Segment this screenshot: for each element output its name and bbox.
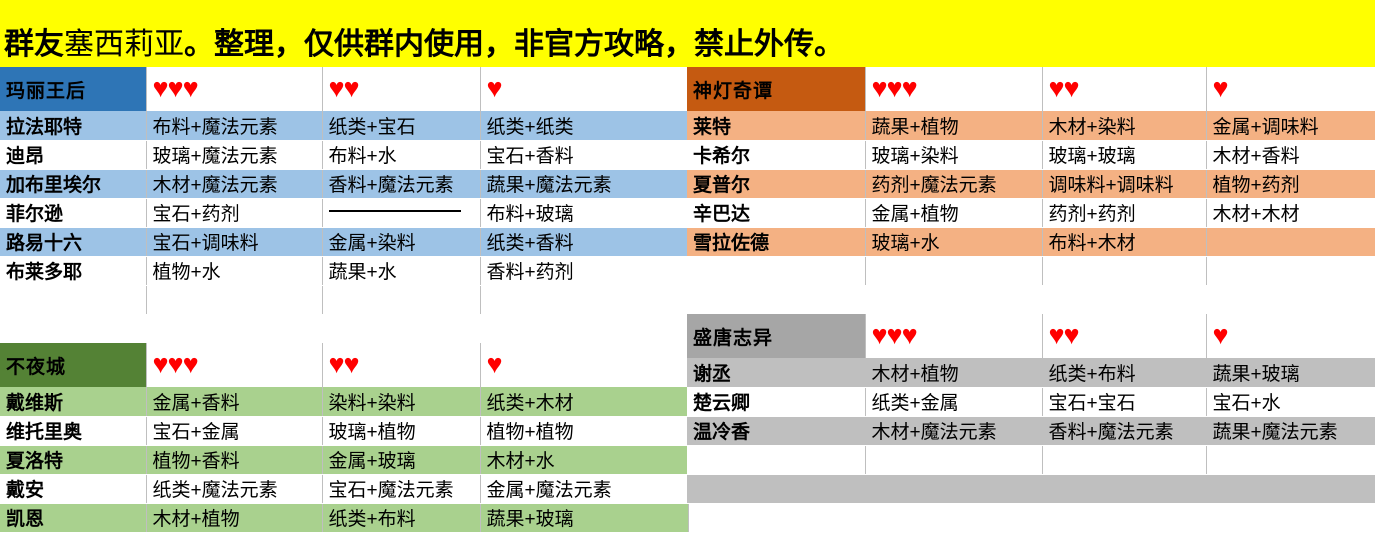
heart-column-2: ♥♥	[1042, 67, 1206, 111]
table-row[interactable]: 莱特 蔬果+植物 木材+染料 金属+调味料	[687, 111, 1375, 140]
heart-icon-group-2: ♥♥	[329, 349, 359, 379]
recipe-cell: 蔬果+水	[322, 256, 480, 285]
section-title-mary-queen: 玛丽王后	[0, 67, 146, 111]
heart-icon-group-3: ♥♥♥	[872, 320, 917, 350]
recipe-cell: 蔬果+魔法元素	[480, 169, 688, 198]
character-name: 谢丞	[687, 358, 865, 387]
heart-icon-group-1: ♥	[1213, 73, 1228, 103]
heart-column-1: ♥	[1206, 67, 1375, 111]
recipe-cell: 木材+水	[480, 445, 688, 474]
character-name: 迪昂	[0, 140, 146, 169]
character-name	[687, 445, 865, 474]
character-name: 夏洛特	[0, 445, 146, 474]
table-row[interactable]: 加布里埃尔 木材+魔法元素 香料+魔法元素 蔬果+魔法元素	[0, 169, 688, 198]
recipe-cell: 木材+木材	[1206, 198, 1375, 227]
recipe-cell: 宝石+宝石	[1042, 387, 1206, 416]
banner-text: 群友塞西莉亚。整理，仅供群内使用，非官方攻略，禁止外传。	[4, 27, 844, 63]
recipe-cell: 纸类+宝石	[322, 111, 480, 140]
heart-column-1: ♥	[480, 67, 688, 111]
table-row[interactable]	[687, 445, 1375, 474]
heart-icon-group-1: ♥	[1213, 320, 1228, 350]
heart-column-2: ♥♥	[322, 67, 480, 111]
recipe-cell: 布料+木材	[1042, 227, 1206, 256]
recipe-cell: 金属+玻璃	[322, 445, 480, 474]
recipe-cell: 金属+调味料	[1206, 111, 1375, 140]
heart-icon-group-3: ♥♥♥	[153, 349, 198, 379]
tables-grid: 玛丽王后 ♥♥♥ ♥♥ ♥ 拉法耶特 布料+魔法元素 纸类+宝石 纸类+纸类 迪…	[0, 67, 1375, 507]
recipe-cell: 木材+植物	[865, 358, 1042, 387]
character-name: 拉法耶特	[0, 111, 146, 140]
character-name: 戴维斯	[0, 387, 146, 416]
recipe-cell: 木材+植物	[146, 503, 322, 532]
recipe-cell: 布料+魔法元素	[146, 111, 322, 140]
table-row[interactable]: 辛巴达 金属+植物 药剂+药剂 木材+木材	[687, 198, 1375, 227]
character-name: 路易十六	[0, 227, 146, 256]
spacer-row	[687, 256, 1375, 285]
gap-row	[687, 285, 1375, 314]
recipe-cell: 木材+染料	[1042, 111, 1206, 140]
table-row[interactable]: 卡希尔 玻璃+染料 玻璃+玻璃 木材+香料	[687, 140, 1375, 169]
spacer-row	[0, 285, 688, 314]
recipe-cell-empty	[322, 198, 480, 227]
recipe-cell: 纸类+布料	[1042, 358, 1206, 387]
spacer-cell	[1206, 256, 1375, 285]
heart-column-2: ♥♥	[322, 343, 480, 387]
recipe-cell: 玻璃+魔法元素	[146, 140, 322, 169]
heart-icon-group-2: ♥♥	[1049, 320, 1079, 350]
recipe-cell: 宝石+香料	[480, 140, 688, 169]
recipe-cell: 蔬果+玻璃	[1206, 358, 1375, 387]
heart-icon-group-1: ♥	[487, 73, 502, 103]
recipe-cell: 宝石+魔法元素	[322, 474, 480, 503]
table-row[interactable]: 迪昂 玻璃+魔法元素 布料+水 宝石+香料	[0, 140, 688, 169]
recipe-cell: 蔬果+植物	[865, 111, 1042, 140]
character-name: 夏普尔	[687, 169, 865, 198]
spacer-cell	[0, 285, 146, 314]
table-row[interactable]: 夏普尔 药剂+魔法元素 调味料+调味料 植物+药剂	[687, 169, 1375, 198]
recipe-cell: 植物+药剂	[1206, 169, 1375, 198]
heart-icon-group-2: ♥♥	[329, 73, 359, 103]
recipe-cell	[865, 474, 1042, 503]
table-row[interactable]: 戴安 纸类+魔法元素 宝石+魔法元素 金属+魔法元素	[0, 474, 688, 503]
recipe-cell: 布料+水	[322, 140, 480, 169]
recipe-cell: 金属+魔法元素	[480, 474, 688, 503]
heart-column-3: ♥♥♥	[146, 67, 322, 111]
recipe-cell: 植物+植物	[480, 416, 688, 445]
section-title-sleepless-city: 不夜城	[0, 343, 146, 387]
recipe-cell: 植物+水	[146, 256, 322, 285]
recipe-cell-empty	[1206, 227, 1375, 256]
section-header-tang-tales: 盛唐志异 ♥♥♥ ♥♥ ♥	[687, 314, 1375, 358]
recipe-cell: 木材+魔法元素	[146, 169, 322, 198]
heart-column-3: ♥♥♥	[865, 67, 1042, 111]
recipe-cell: 纸类+魔法元素	[146, 474, 322, 503]
heart-column-1: ♥	[1206, 314, 1375, 358]
table-row[interactable]: 维托里奥 宝石+金属 玻璃+植物 植物+植物	[0, 416, 688, 445]
character-name: 辛巴达	[687, 198, 865, 227]
recipe-cell: 宝石+金属	[146, 416, 322, 445]
table-row[interactable]: 布莱多耶 植物+水 蔬果+水 香料+药剂	[0, 256, 688, 285]
table-row[interactable]: 谢丞 木材+植物 纸类+布料 蔬果+玻璃	[687, 358, 1375, 387]
recipe-cell: 纸类+木材	[480, 387, 688, 416]
heart-column-3: ♥♥♥	[865, 314, 1042, 358]
recipe-cell: 金属+植物	[865, 198, 1042, 227]
right-panel: 神灯奇谭 ♥♥♥ ♥♥ ♥ 莱特 蔬果+植物 木材+染料 金属+调味料 卡希尔 …	[687, 67, 1375, 507]
spacer-cell	[1042, 256, 1206, 285]
left-panel: 玛丽王后 ♥♥♥ ♥♥ ♥ 拉法耶特 布料+魔法元素 纸类+宝石 纸类+纸类 迪…	[0, 67, 688, 507]
heart-column-3: ♥♥♥	[146, 343, 322, 387]
recipe-cell: 木材+香料	[1206, 140, 1375, 169]
recipe-cell: 蔬果+魔法元素	[1206, 416, 1375, 445]
spacer-cell	[865, 256, 1042, 285]
character-name: 莱特	[687, 111, 865, 140]
character-name	[687, 474, 865, 503]
recipe-cell: 香料+药剂	[480, 256, 688, 285]
table-row[interactable]: 戴维斯 金属+香料 染料+染料 纸类+木材	[0, 387, 688, 416]
recipe-cell	[1042, 474, 1206, 503]
recipe-cell: 金属+香料	[146, 387, 322, 416]
table-row[interactable]: 雪拉佐德 玻璃+水 布料+木材	[687, 227, 1375, 256]
recipe-cell	[865, 445, 1042, 474]
recipe-cell: 金属+染料	[322, 227, 480, 256]
heart-column-1: ♥	[480, 343, 688, 387]
character-name: 戴安	[0, 474, 146, 503]
section-header-magic-lamp: 神灯奇谭 ♥♥♥ ♥♥ ♥	[687, 67, 1375, 111]
recipe-cell: 玻璃+水	[865, 227, 1042, 256]
title-banner: 群友塞西莉亚。整理，仅供群内使用，非官方攻略，禁止外传。	[0, 0, 1375, 67]
recipe-cell: 宝石+药剂	[146, 198, 322, 227]
recipe-cell: 玻璃+玻璃	[1042, 140, 1206, 169]
recipe-cell: 调味料+调味料	[1042, 169, 1206, 198]
table-row[interactable]: 温冷香 木材+魔法元素 香料+魔法元素 蔬果+魔法元素	[687, 416, 1375, 445]
character-name: 加布里埃尔	[0, 169, 146, 198]
recipe-cell: 纸类+香料	[480, 227, 688, 256]
recipe-cell: 香料+魔法元素	[322, 169, 480, 198]
gap-row	[0, 314, 688, 343]
recipe-cell: 香料+魔法元素	[1042, 416, 1206, 445]
recipe-cell: 植物+香料	[146, 445, 322, 474]
spacer-cell	[322, 285, 480, 314]
table-row[interactable]: 夏洛特 植物+香料 金属+玻璃 木材+水	[0, 445, 688, 474]
recipe-cell: 玻璃+植物	[322, 416, 480, 445]
heart-icon-group-1: ♥	[487, 349, 502, 379]
recipe-cell: 纸类+纸类	[480, 111, 688, 140]
gap-cell	[0, 314, 688, 343]
recipe-cell	[1206, 445, 1375, 474]
character-name: 卡希尔	[687, 140, 865, 169]
character-name: 温冷香	[687, 416, 865, 445]
character-name: 楚云卿	[687, 387, 865, 416]
section-title-tang-tales: 盛唐志异	[687, 314, 865, 358]
character-name: 凯恩	[0, 503, 146, 532]
banner-prefix: 群友	[4, 28, 64, 61]
recipe-cell: 木材+魔法元素	[865, 416, 1042, 445]
table-row[interactable]: 菲尔逊 宝石+药剂 布料+玻璃	[0, 198, 688, 227]
recipe-cell: 宝石+调味料	[146, 227, 322, 256]
recipe-cell	[1206, 474, 1375, 503]
recipe-cell: 蔬果+玻璃	[480, 503, 688, 532]
character-name: 布莱多耶	[0, 256, 146, 285]
table-row[interactable]: 凯恩 木材+植物 纸类+布料 蔬果+玻璃	[0, 503, 688, 532]
heart-icon-group-3: ♥♥♥	[153, 73, 198, 103]
banner-suffix: 。整理，仅供群内使用，非官方攻略，禁止外传。	[184, 28, 844, 61]
spacer-cell	[480, 285, 688, 314]
recipe-cell: 宝石+水	[1206, 387, 1375, 416]
section-title-magic-lamp: 神灯奇谭	[687, 67, 865, 111]
table-row[interactable]: 路易十六 宝石+调味料 金属+染料 纸类+香料	[0, 227, 688, 256]
heart-icon-group-2: ♥♥	[1049, 73, 1079, 103]
spacer-cell	[146, 285, 322, 314]
dash-placeholder-icon	[329, 210, 461, 212]
table-row[interactable]: 楚云卿 纸类+金属 宝石+宝石 宝石+水	[687, 387, 1375, 416]
recipe-cell	[1042, 445, 1206, 474]
recipe-cell: 药剂+药剂	[1042, 198, 1206, 227]
recipe-cell: 布料+玻璃	[480, 198, 688, 227]
character-name: 雪拉佐德	[687, 227, 865, 256]
right-tables: 神灯奇谭 ♥♥♥ ♥♥ ♥ 莱特 蔬果+植物 木材+染料 金属+调味料 卡希尔 …	[687, 67, 1375, 504]
character-name: 维托里奥	[0, 416, 146, 445]
recipe-cell: 纸类+金属	[865, 387, 1042, 416]
recipe-cell: 药剂+魔法元素	[865, 169, 1042, 198]
section-header-mary-queen: 玛丽王后 ♥♥♥ ♥♥ ♥	[0, 67, 688, 111]
character-name: 菲尔逊	[0, 198, 146, 227]
heart-column-2: ♥♥	[1042, 314, 1206, 358]
left-tables: 玛丽王后 ♥♥♥ ♥♥ ♥ 拉法耶特 布料+魔法元素 纸类+宝石 纸类+纸类 迪…	[0, 67, 689, 533]
heart-icon-group-3: ♥♥♥	[872, 73, 917, 103]
recipe-cell: 染料+染料	[322, 387, 480, 416]
section-header-sleepless-city: 不夜城 ♥♥♥ ♥♥ ♥	[0, 343, 688, 387]
banner-author: 塞西莉亚	[64, 28, 184, 61]
spacer-cell	[687, 256, 865, 285]
table-row[interactable]: 拉法耶特 布料+魔法元素 纸类+宝石 纸类+纸类	[0, 111, 688, 140]
spreadsheet-page: 群友塞西莉亚。整理，仅供群内使用，非官方攻略，禁止外传。 玛丽王后 ♥♥♥ ♥♥…	[0, 0, 1375, 507]
gap-cell	[687, 285, 1375, 314]
table-row[interactable]	[687, 474, 1375, 503]
recipe-cell: 玻璃+染料	[865, 140, 1042, 169]
recipe-cell: 纸类+布料	[322, 503, 480, 532]
